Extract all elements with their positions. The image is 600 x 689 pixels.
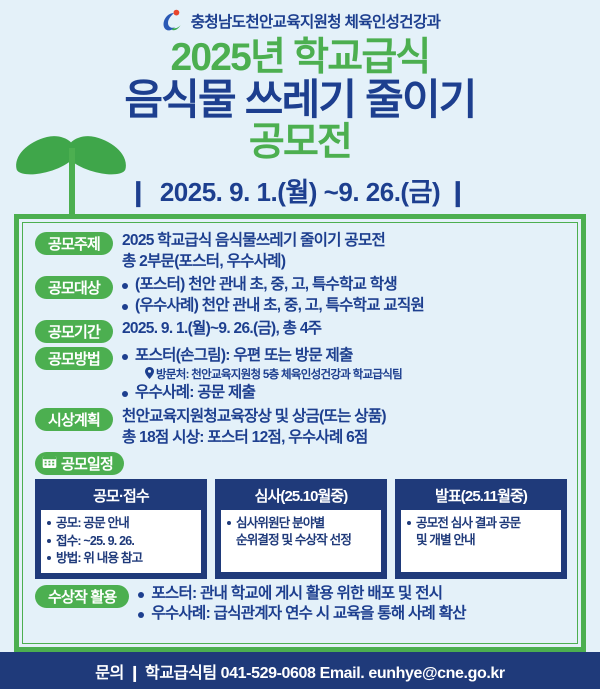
target-bullet-2: (우수사례) 천안 관내 초, 중, 고, 특수학교 교직원 <box>122 296 567 317</box>
calendar-icon <box>42 454 57 473</box>
usage-bullet-2: 우수사례: 급식관계자 연수 시 교육을 통해 사례 확산 <box>138 604 567 625</box>
method-bullet-2: 우수사례: 공문 제출 <box>122 383 567 404</box>
award-line-1: 천안교육지원청교육장상 및 상금(또는 상품) <box>122 407 567 428</box>
list-item: 심사위원단 분야별 순위결정 및 수상작 선정 <box>227 515 377 548</box>
schedule-cards: 공모·접수 공모: 공문 안내 접수: ~25. 9. 26. 방법: 위 내용… <box>35 479 567 579</box>
schedule-card-apply-body: 공모: 공문 안내 접수: ~25. 9. 26. 방법: 위 내용 참고 <box>41 510 201 573</box>
target-bullet-1-text: (포스터) 천안 관내 초, 중, 고, 특수학교 학생 <box>135 275 397 296</box>
schedule-label-row: 공모일정 <box>35 451 567 475</box>
title-line-2: 음식물 쓰레기 줄이기 <box>0 79 600 121</box>
schedule-card-apply: 공모·접수 공모: 공문 안내 접수: ~25. 9. 26. 방법: 위 내용… <box>35 479 207 579</box>
usage-bullet-1-text: 포스터: 관내 학교에 게시 활용 위한 배포 및 전시 <box>151 584 442 605</box>
date-bar-left: ❙ <box>127 177 153 207</box>
apply-item-1: 공모: 공문 안내 <box>56 515 129 532</box>
method-subnote-text: 방문처: 천안교육지원청 5층 체육인성건강과 학교급식팀 <box>156 368 402 382</box>
method-bullet-2-text: 우수사례: 공문 제출 <box>135 383 255 404</box>
schedule-card-review-body: 심사위원단 분야별 순위결정 및 수상작 선정 <box>221 510 381 572</box>
content-inner: 공모주제 2025 학교급식 음식물쓰레기 줄이기 공모전 총 2부문(포스터,… <box>22 222 578 644</box>
section-label-usage: 수상작 활용 <box>35 585 129 608</box>
list-item: 공모전 심사 결과 공문 및 개별 안내 <box>407 515 557 548</box>
section-label-schedule: 공모일정 <box>35 452 124 475</box>
section-row-method: 공모방법 포스터(손그림): 우편 또는 방문 제출 방문처: 천안교육지원청 … <box>35 346 567 404</box>
list-item: 방법: 위 내용 참고 <box>47 550 197 567</box>
apply-item-3: 방법: 위 내용 참고 <box>56 550 142 567</box>
usage-bullet-2-text: 우수사례: 급식관계자 연수 시 교육을 통해 사례 확산 <box>151 604 465 625</box>
review-item-1-line1: 심사위원단 분야별 <box>236 516 324 530</box>
date-bar-right: ❙ <box>447 177 473 207</box>
topic-line-1: 2025 학교급식 음식물쓰레기 줄이기 공모전 <box>122 231 567 252</box>
section-label-target: 공모대상 <box>35 276 113 299</box>
section-body-topic: 2025 학교급식 음식물쓰레기 줄이기 공모전 총 2부문(포스터, 우수사례… <box>113 231 567 272</box>
section-body-usage: 포스터: 관내 학교에 게시 활용 위한 배포 및 전시 우수사례: 급식관계자… <box>129 584 567 625</box>
content-box: 공모주제 2025 학교급식 음식물쓰레기 줄이기 공모전 총 2부문(포스터,… <box>14 214 586 652</box>
section-row-usage: 수상작 활용 포스터: 관내 학교에 게시 활용 위한 배포 및 전시 우수사례… <box>35 584 567 625</box>
schedule-card-review: 심사(25.10월중) 심사위원단 분야별 순위결정 및 수상작 선정 <box>215 479 387 579</box>
target-bullet-1: (포스터) 천안 관내 초, 중, 고, 특수학교 학생 <box>122 275 567 296</box>
award-line-2: 총 18점 시상: 포스터 12점, 우수사례 6점 <box>122 428 567 449</box>
section-row-topic: 공모주제 2025 학교급식 음식물쓰레기 줄이기 공모전 총 2부문(포스터,… <box>35 231 567 272</box>
schedule-card-announce: 발표(25.11월중) 공모전 심사 결과 공문 및 개별 안내 <box>395 479 567 579</box>
topic-line-2: 총 2부문(포스터, 우수사례) <box>122 252 567 273</box>
schedule-card-announce-body: 공모전 심사 결과 공문 및 개별 안내 <box>401 510 561 572</box>
organization-name: 충청남도천안교육지원청 체육인성건강과 <box>191 10 441 32</box>
announce-item-1: 공모전 심사 결과 공문 및 개별 안내 <box>416 515 520 548</box>
method-subnote: 방문처: 천안교육지원청 5층 체육인성건강과 학교급식팀 <box>122 367 567 383</box>
section-label-topic: 공모주제 <box>35 232 113 255</box>
section-label-method: 공모방법 <box>35 347 113 370</box>
announce-item-1-line2: 및 개별 안내 <box>416 532 520 549</box>
review-item-1-line2: 순위결정 및 수상작 선정 <box>236 532 351 549</box>
footer-contact-text: 문의 ❙ 학교급식팀 041-529-0608 Email. eunhye@cn… <box>95 659 504 683</box>
section-label-award: 시상계획 <box>35 408 113 431</box>
section-body-period: 2025. 9. 1.(월)~9. 26.(금), 총 4주 <box>113 319 567 340</box>
section-row-target: 공모대상 (포스터) 천안 관내 초, 중, 고, 특수학교 학생 (우수사례)… <box>35 275 567 316</box>
section-row-award: 시상계획 천안교육지원청교육장상 및 상금(또는 상품) 총 18점 시상: 포… <box>35 407 567 448</box>
usage-bullet-1: 포스터: 관내 학교에 게시 활용 위한 배포 및 전시 <box>138 584 567 605</box>
schedule-card-announce-title: 발표(25.11월중) <box>401 484 561 510</box>
section-row-period: 공모기간 2025. 9. 1.(월)~9. 26.(금), 총 4주 <box>35 319 567 343</box>
period-line-1: 2025. 9. 1.(월)~9. 26.(금), 총 4주 <box>122 319 567 340</box>
method-bullet-1: 포스터(손그림): 우편 또는 방문 제출 <box>122 346 567 367</box>
method-bullet-1-text: 포스터(손그림): 우편 또는 방문 제출 <box>135 346 353 367</box>
title-line-1: 2025년 학교급식 <box>0 38 600 77</box>
section-label-period: 공모기간 <box>35 320 113 343</box>
list-item: 접수: ~25. 9. 26. <box>47 533 197 550</box>
section-body-target: (포스터) 천안 관내 초, 중, 고, 특수학교 학생 (우수사례) 천안 관… <box>113 275 567 316</box>
section-label-schedule-text: 공모일정 <box>61 453 113 474</box>
location-pin-icon <box>145 367 154 383</box>
date-range: 2025. 9. 1.(월) ~9. 26.(금) <box>160 177 440 207</box>
target-bullet-2-text: (우수사례) 천안 관내 초, 중, 고, 특수학교 교직원 <box>135 296 424 317</box>
chungnam-cheonan-education-office-logo-icon <box>160 8 186 34</box>
date-line: ❙ 2025. 9. 1.(월) ~9. 26.(금) ❙ <box>0 172 600 209</box>
schedule-card-review-title: 심사(25.10월중) <box>221 484 381 510</box>
announce-item-1-line1: 공모전 심사 결과 공문 <box>416 516 520 530</box>
organization-line: 충청남도천안교육지원청 체육인성건강과 <box>0 8 600 34</box>
footer-bar: 문의 ❙ 학교급식팀 041-529-0608 Email. eunhye@cn… <box>0 652 600 689</box>
schedule-card-apply-title: 공모·접수 <box>41 484 201 510</box>
section-body-method: 포스터(손그림): 우편 또는 방문 제출 방문처: 천안교육지원청 5층 체육… <box>113 346 567 404</box>
list-item: 공모: 공문 안내 <box>47 515 197 532</box>
review-item-1: 심사위원단 분야별 순위결정 및 수상작 선정 <box>236 515 351 548</box>
apply-item-2: 접수: ~25. 9. 26. <box>56 533 134 550</box>
poster-root: 충청남도천안교육지원청 체육인성건강과 2025년 학교급식 음식물 쓰레기 줄… <box>0 0 600 689</box>
section-body-award: 천안교육지원청교육장상 및 상금(또는 상품) 총 18점 시상: 포스터 12… <box>113 407 567 448</box>
